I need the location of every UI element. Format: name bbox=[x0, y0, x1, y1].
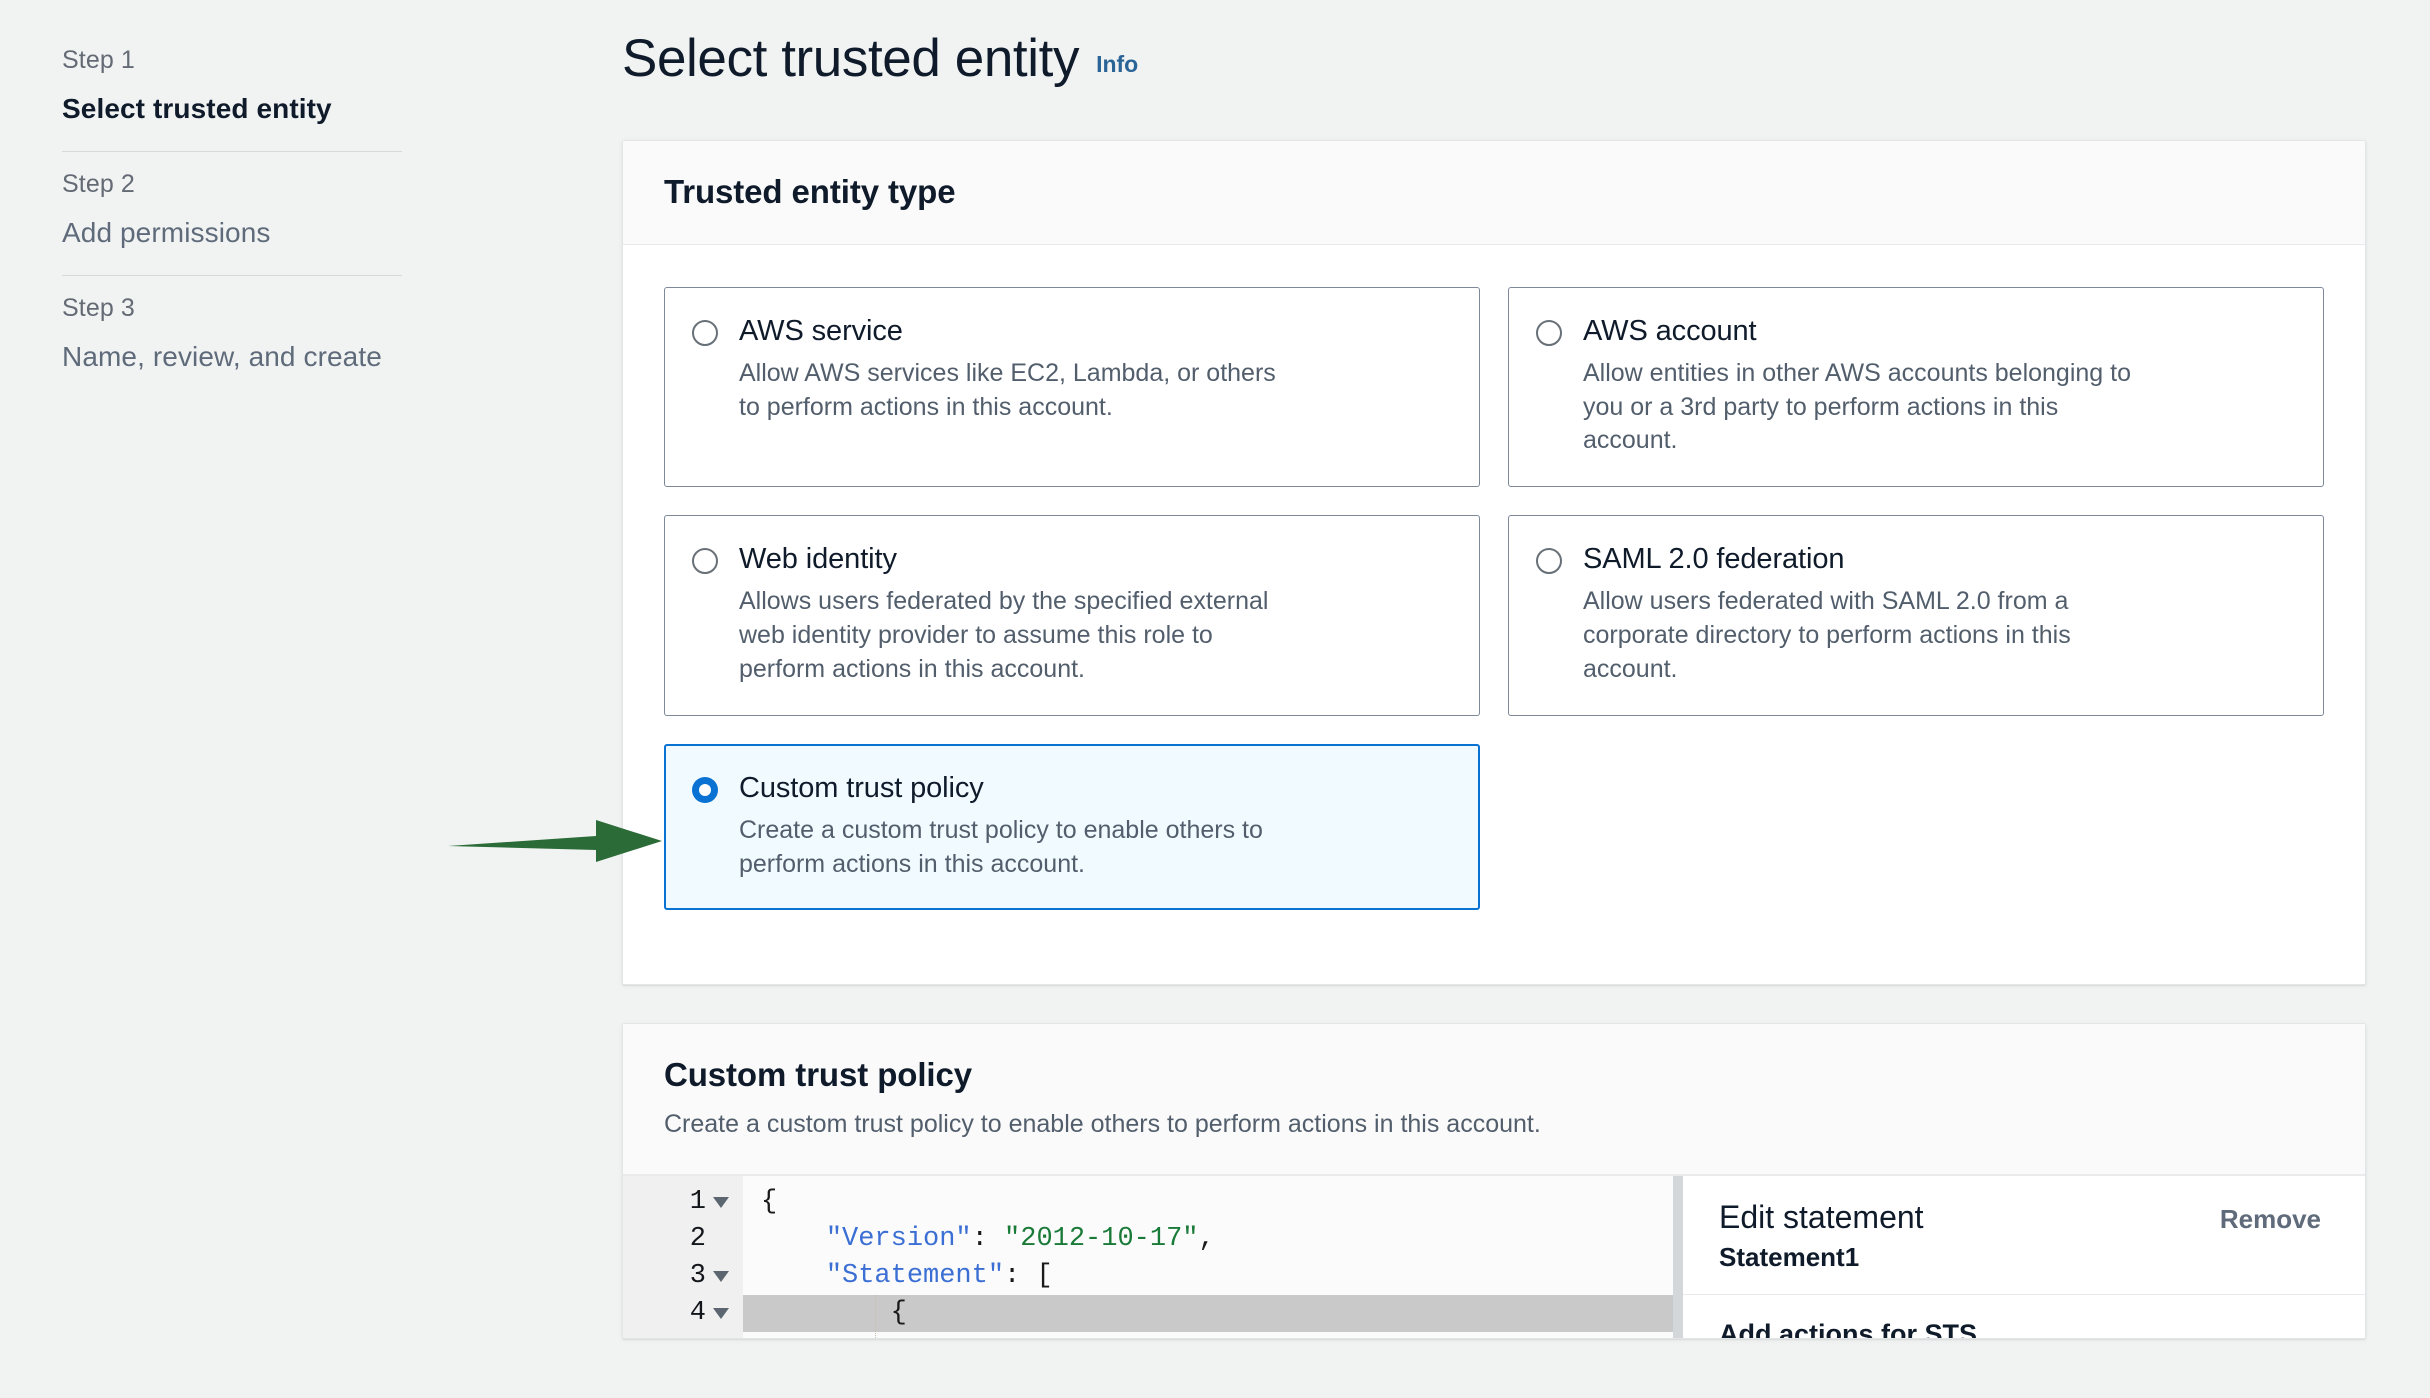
option-card-aws-account[interactable]: AWS account Allow entities in other AWS … bbox=[1508, 287, 2324, 488]
option-title-saml-federation: SAML 2.0 federation bbox=[1583, 541, 2296, 577]
code-line-text: "Statement": [ bbox=[761, 1261, 1053, 1291]
code-line-selected[interactable]: { bbox=[743, 1295, 1673, 1332]
option-title-aws-account: AWS account bbox=[1583, 313, 2296, 349]
fold-toggle-icon[interactable] bbox=[713, 1197, 729, 1208]
policy-editor-area: 1 2 3 4 bbox=[623, 1175, 2365, 1338]
code-line-text: { bbox=[761, 1187, 777, 1217]
code-line[interactable]: { bbox=[743, 1184, 1673, 1221]
option-desc-custom-trust-policy: Create a custom trust policy to enable o… bbox=[739, 814, 1299, 882]
trusted-entity-type-heading: Trusted entity type bbox=[664, 172, 2324, 212]
sidebar-step-2-number: Step 2 bbox=[62, 166, 498, 204]
line-number: 1 bbox=[690, 1187, 706, 1217]
line-number-row: 4 bbox=[623, 1295, 743, 1332]
sidebar-step-2-label: Add permissions bbox=[62, 213, 498, 254]
editor-pane-divider[interactable] bbox=[1673, 1176, 1683, 1338]
radio-aws-service[interactable] bbox=[692, 320, 718, 346]
line-number-row: 2 bbox=[623, 1221, 743, 1258]
custom-trust-policy-panel: Custom trust policy Create a custom trus… bbox=[622, 1023, 2366, 1339]
option-title-web-identity: Web identity bbox=[739, 541, 1452, 577]
sidebar-step-1[interactable]: Step 1 Select trusted entity bbox=[62, 28, 498, 151]
sidebar-step-1-number: Step 1 bbox=[62, 42, 498, 80]
trusted-entity-option-grid: AWS service Allow AWS services like EC2,… bbox=[664, 287, 2324, 939]
page-header: Select trusted entity Info bbox=[622, 0, 2430, 140]
sidebar-step-1-label: Select trusted entity bbox=[62, 89, 498, 130]
option-card-saml-federation[interactable]: SAML 2.0 federation Allow users federate… bbox=[1508, 515, 2324, 716]
wizard-steps-sidebar: Step 1 Select trusted entity Step 2 Add … bbox=[0, 0, 560, 1398]
trusted-entity-type-body: AWS service Allow AWS services like EC2,… bbox=[623, 245, 2365, 985]
sidebar-step-3[interactable]: Step 3 Name, review, and create bbox=[62, 276, 498, 399]
fold-toggle-icon[interactable] bbox=[713, 1271, 729, 1282]
edit-statement-panel: Edit statement Statement1 Remove Add act… bbox=[1683, 1176, 2365, 1338]
policy-code-editor[interactable]: 1 2 3 4 bbox=[623, 1176, 1673, 1338]
custom-trust-policy-description: Create a custom trust policy to enable o… bbox=[664, 1107, 2324, 1142]
trusted-entity-type-header: Trusted entity type bbox=[623, 141, 2365, 245]
page-title: Select trusted entity bbox=[622, 30, 1079, 88]
iam-create-role-page: Step 1 Select trusted entity Step 2 Add … bbox=[0, 0, 2430, 1398]
code-line-text: "Version": "2012-10-17", bbox=[761, 1224, 1215, 1254]
indent-guide bbox=[875, 1295, 876, 1338]
line-number-row: 1 bbox=[623, 1184, 743, 1221]
edit-statement-name: Statement1 bbox=[1719, 1242, 1924, 1273]
line-number: 4 bbox=[690, 1298, 706, 1328]
edit-statement-title: Edit statement bbox=[1719, 1198, 1924, 1236]
custom-trust-policy-heading: Custom trust policy bbox=[664, 1055, 2324, 1095]
radio-aws-account[interactable] bbox=[1536, 320, 1562, 346]
option-card-custom-trust-policy[interactable]: Custom trust policy Create a custom trus… bbox=[664, 744, 1480, 911]
code-line-text: { bbox=[761, 1298, 1673, 1328]
main-content: Select trusted entity Info Trusted entit… bbox=[622, 0, 2430, 1398]
code-line[interactable]: "Statement": [ bbox=[743, 1258, 1673, 1295]
option-card-aws-service[interactable]: AWS service Allow AWS services like EC2,… bbox=[664, 287, 1480, 488]
line-number: 2 bbox=[690, 1224, 706, 1254]
option-card-web-identity[interactable]: Web identity Allows users federated by t… bbox=[664, 515, 1480, 716]
line-number-row: 3 bbox=[623, 1258, 743, 1295]
line-number: 3 bbox=[690, 1261, 706, 1291]
info-link[interactable]: Info bbox=[1096, 51, 1138, 78]
sidebar-step-2[interactable]: Step 2 Add permissions bbox=[62, 152, 498, 275]
edit-statement-body: Add actions for STS bbox=[1683, 1295, 2365, 1338]
code-line[interactable]: "Version": "2012-10-17", bbox=[743, 1221, 1673, 1258]
editor-code-lines[interactable]: { "Version": "2012-10-17", "Statement": … bbox=[743, 1176, 1673, 1338]
radio-custom-trust-policy[interactable] bbox=[692, 777, 718, 803]
option-title-aws-service: AWS service bbox=[739, 313, 1452, 349]
option-desc-aws-service: Allow AWS services like EC2, Lambda, or … bbox=[739, 357, 1299, 425]
add-actions-for-sts-heading: Add actions for STS bbox=[1719, 1319, 2329, 1338]
option-desc-web-identity: Allows users federated by the specified … bbox=[739, 585, 1299, 686]
custom-trust-policy-header: Custom trust policy Create a custom trus… bbox=[623, 1024, 2365, 1175]
remove-statement-button[interactable]: Remove bbox=[2220, 1198, 2329, 1235]
option-desc-aws-account: Allow entities in other AWS accounts bel… bbox=[1583, 357, 2143, 458]
radio-web-identity[interactable] bbox=[692, 548, 718, 574]
edit-statement-header: Edit statement Statement1 Remove bbox=[1683, 1176, 2365, 1295]
editor-line-number-gutter: 1 2 3 4 bbox=[623, 1176, 743, 1338]
option-desc-saml-federation: Allow users federated with SAML 2.0 from… bbox=[1583, 585, 2143, 686]
fold-toggle-icon[interactable] bbox=[713, 1308, 729, 1319]
option-title-custom-trust-policy: Custom trust policy bbox=[739, 770, 1452, 806]
radio-saml-federation[interactable] bbox=[1536, 548, 1562, 574]
trusted-entity-type-panel: Trusted entity type AWS service Allow AW… bbox=[622, 140, 2366, 985]
sidebar-step-3-label: Name, review, and create bbox=[62, 337, 498, 378]
sidebar-step-3-number: Step 3 bbox=[62, 290, 498, 328]
